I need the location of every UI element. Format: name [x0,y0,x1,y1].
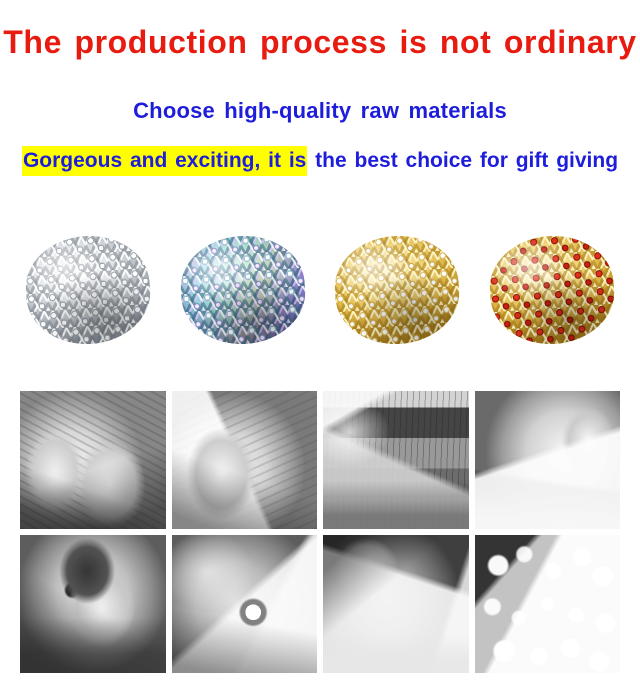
photo-hands-filing-ring[interactable] [20,391,166,529]
photo-pliers-shaping[interactable] [475,391,621,529]
process-photo-grid [20,391,620,673]
tagline-plain-part: the best choice for gift giving [307,149,618,172]
subtitle-raw-materials: Choose high-quality raw materials [0,97,640,125]
product-description-banner: The production process is not ordinary C… [0,0,640,680]
gold-clear-crystal-ring-image [332,232,463,348]
photo-loose-gemstones[interactable] [475,535,621,673]
gold-red-crystal-ring-image [486,232,617,348]
tagline-highlighted-part: Gorgeous and exciting, it is [22,146,307,176]
photo-stone-setting[interactable] [323,535,469,673]
ring-showcase-row [0,205,640,375]
ring-item-gold-clear[interactable] [323,215,471,365]
ring-item-silver[interactable] [14,215,162,365]
page-title: The production process is not ordinary [0,22,640,62]
photo-jeweler-with-loupe[interactable] [20,535,166,673]
ring-item-gold-red[interactable] [478,215,626,365]
photo-anvil-workbench[interactable] [323,391,469,529]
photo-hand-with-tweezers[interactable] [172,391,318,529]
tagline-gift-giving: Gorgeous and exciting, it is the best ch… [0,147,640,175]
ring-item-rainbow[interactable] [169,215,317,365]
silver-crystal-ring-image [22,232,153,348]
rainbow-iridescent-ring-image [177,232,308,348]
photo-ring-on-mandrel[interactable] [172,535,318,673]
